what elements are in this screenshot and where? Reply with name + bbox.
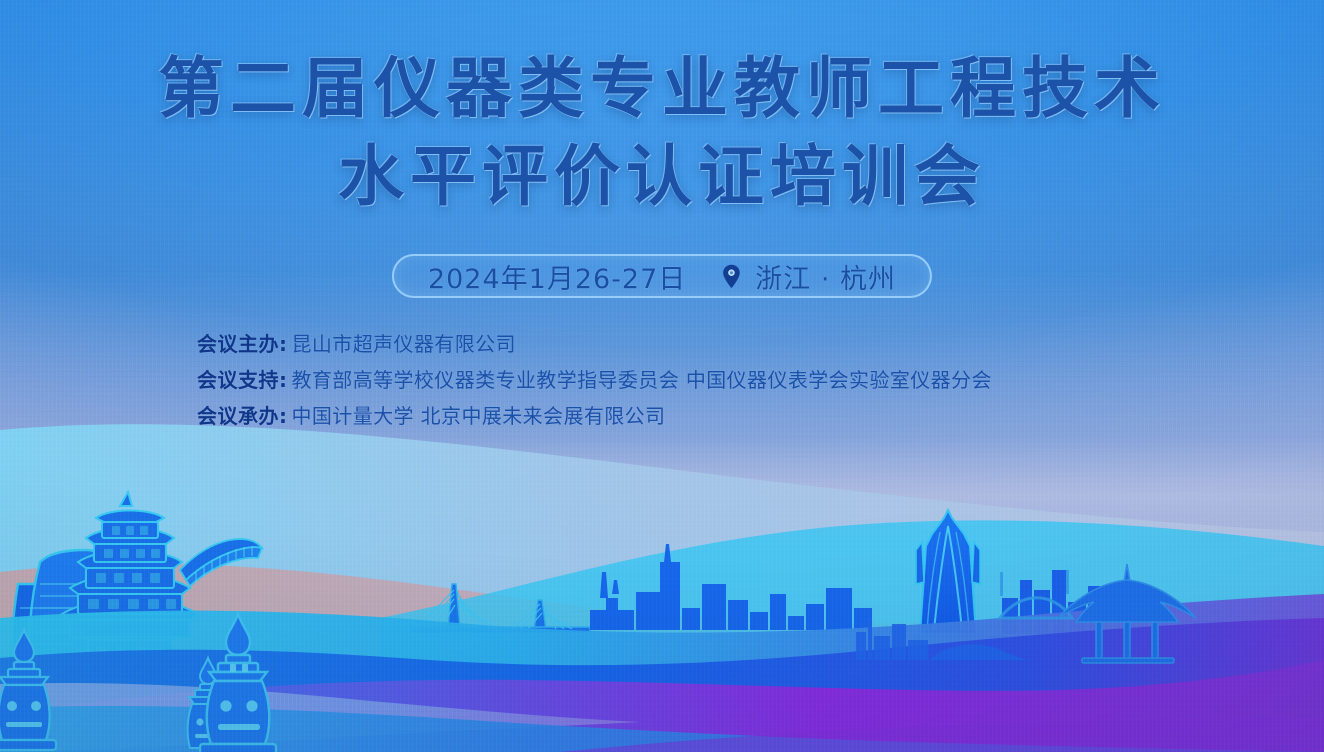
credit-row-supporter: 会议支持: 教育部高等学校仪器类专业教学指导委员会 中国仪器仪表学会实验室仪器分… bbox=[197, 368, 992, 393]
credit-row-undertaker: 会议承办: 中国计量大学 北京中展未来会展有限公司 bbox=[197, 404, 992, 429]
credits-block: 会议主办: 昆山市超声仪器有限公司 会议支持: 教育部高等学校仪器类专业教学指导… bbox=[197, 332, 992, 429]
banner-title: 第二届仪器类专业教师工程技术 水平评价认证培训会 bbox=[0, 52, 1324, 214]
credit-value: 教育部高等学校仪器类专业教学指导委员会 中国仪器仪表学会实验室仪器分会 bbox=[292, 368, 992, 393]
credit-value: 中国计量大学 北京中展未来会展有限公司 bbox=[292, 404, 666, 429]
credit-row-organizer: 会议主办: 昆山市超声仪器有限公司 bbox=[197, 332, 992, 357]
credit-value: 昆山市超声仪器有限公司 bbox=[292, 332, 516, 357]
title-line-1: 第二届仪器类专业教师工程技术 bbox=[0, 52, 1324, 126]
event-date: 2024年1月26-27日 bbox=[428, 257, 686, 296]
credit-label: 会议支持: bbox=[197, 368, 288, 393]
credit-label: 会议主办: bbox=[197, 332, 288, 357]
conference-banner: 第二届仪器类专业教师工程技术 水平评价认证培训会 2024年1月26-27日 浙… bbox=[0, 0, 1324, 752]
event-location: 浙江 · 杭州 bbox=[755, 257, 896, 296]
location-pin-icon bbox=[722, 264, 741, 289]
title-line-2: 水平评价认证培训会 bbox=[0, 140, 1324, 214]
credit-label: 会议承办: bbox=[197, 404, 288, 429]
date-location-pill: 2024年1月26-27日 浙江 · 杭州 bbox=[392, 254, 932, 298]
